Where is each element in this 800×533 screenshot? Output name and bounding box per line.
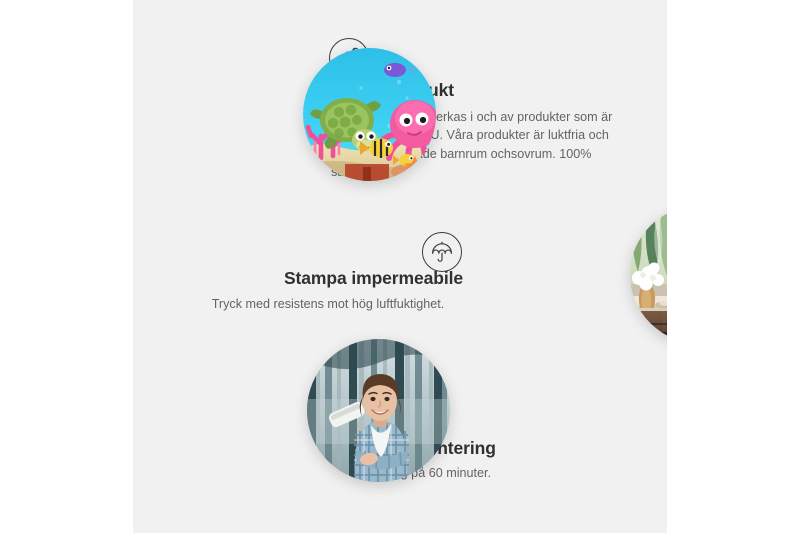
- feature-block-stampa-impermeabile: Stampa impermeabile Tryck med resistens …: [133, 200, 667, 350]
- feature-body: Tryck med resistens mot hög luftfuktighe…: [193, 295, 463, 313]
- feature-title: Stampa impermeabile: [193, 268, 463, 289]
- page-root: Luktfri produkt Alla våra tavlor tillver…: [0, 0, 800, 533]
- content-canvas: Luktfri produkt Alla våra tavlor tillver…: [133, 0, 667, 533]
- photo-underwater-scene: [303, 48, 436, 181]
- feature-text-stampa-impermeabile: Stampa impermeabile Tryck med resistens …: [193, 268, 463, 313]
- umbrella-icon: [422, 232, 462, 272]
- photo-painter-in-forest: [307, 339, 450, 482]
